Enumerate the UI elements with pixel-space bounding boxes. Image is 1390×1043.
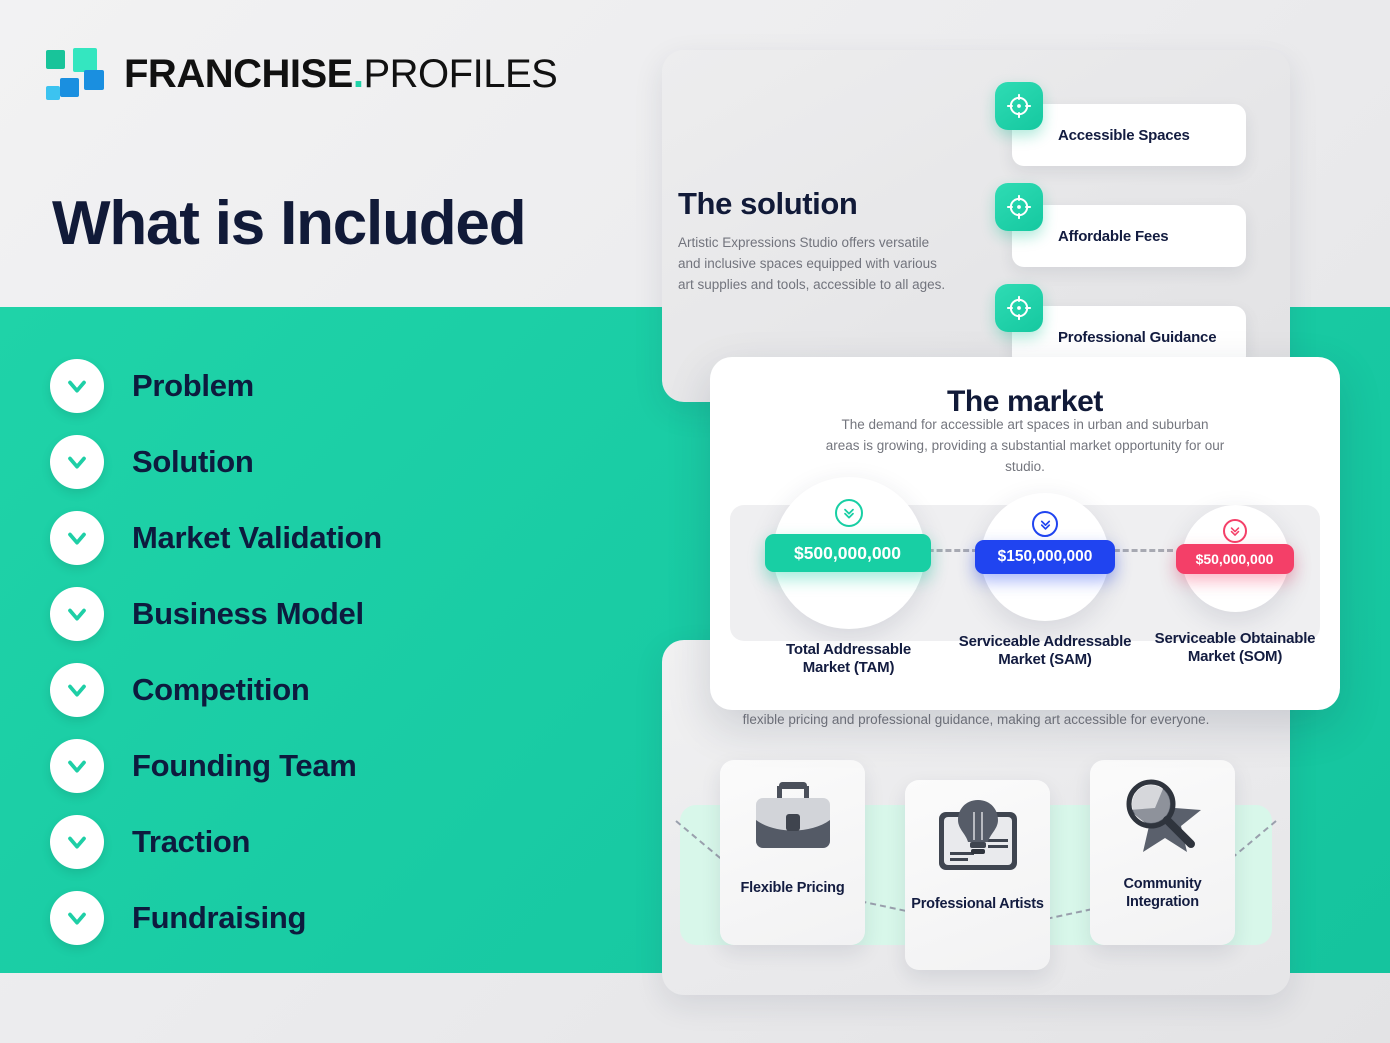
- segment-connector-2: [1105, 549, 1173, 552]
- chevron-down-icon: [50, 739, 104, 793]
- double-chevron-down-icon: [835, 499, 863, 527]
- segment-value-badge: $500,000,000: [765, 534, 931, 572]
- market-segments: $500,000,000 Total Addressable Market (T…: [710, 477, 1340, 702]
- market-segment-som[interactable]: $50,000,000 Serviceable Obtainable Marke…: [1140, 505, 1330, 667]
- toc-item-label: Solution: [132, 444, 254, 480]
- segment-value-badge: $150,000,000: [975, 540, 1115, 574]
- toc-item-label: Founding Team: [132, 748, 357, 784]
- brand-logo[interactable]: FRANCHISE.PROFILES: [46, 48, 557, 100]
- target-icon: [995, 284, 1043, 332]
- chevron-down-icon: [50, 891, 104, 945]
- solution-description: Artistic Expressions Studio offers versa…: [678, 233, 954, 296]
- market-title: The market: [710, 385, 1340, 419]
- solution-feature-label: Accessible Spaces: [1058, 127, 1190, 144]
- toc-item-label: Problem: [132, 368, 254, 404]
- chevron-down-icon: [50, 663, 104, 717]
- toc-item-traction[interactable]: Traction: [50, 804, 382, 880]
- segment-name: Serviceable Addressable Market (SAM): [955, 633, 1135, 670]
- target-icon: [995, 183, 1043, 231]
- chevron-down-icon: [50, 435, 104, 489]
- market-segment-sam[interactable]: $150,000,000 Serviceable Addressable Mar…: [950, 493, 1140, 670]
- solution-feature-label: Professional Guidance: [1058, 329, 1216, 346]
- segment-circle: $50,000,000: [1182, 505, 1289, 612]
- brand-name-dot: .: [353, 52, 364, 96]
- segment-name: Serviceable Obtainable Market (SOM): [1145, 630, 1325, 667]
- toc-item-competition[interactable]: Competition: [50, 652, 382, 728]
- segment-circle: $500,000,000: [773, 477, 925, 629]
- chevron-down-icon: [50, 511, 104, 565]
- value-card-label: Flexible Pricing: [741, 879, 845, 897]
- target-icon: [995, 82, 1043, 130]
- segment-value-badge: $50,000,000: [1176, 544, 1294, 574]
- bottom-description: flexible pricing and professional guidan…: [662, 710, 1290, 731]
- toc-item-business-model[interactable]: Business Model: [50, 576, 382, 652]
- brand-name-light: PROFILES: [363, 52, 557, 96]
- solution-feature-label: Affordable Fees: [1058, 228, 1168, 245]
- lightbulb-presentation-icon: [930, 796, 1026, 883]
- toc-item-label: Business Model: [132, 596, 364, 632]
- value-card-label: Professional Artists: [911, 895, 1043, 913]
- page-title: What is Included: [52, 188, 525, 259]
- table-of-contents: Problem Solution Market Validation Busin…: [50, 348, 382, 956]
- magnifier-star-icon: [1115, 774, 1211, 865]
- toc-item-founding-team[interactable]: Founding Team: [50, 728, 382, 804]
- solution-title: The solution: [678, 186, 857, 222]
- toc-item-solution[interactable]: Solution: [50, 424, 382, 500]
- market-card: The market The demand for accessible art…: [710, 357, 1340, 710]
- value-card-flexible-pricing[interactable]: Flexible Pricing: [720, 760, 865, 945]
- toc-item-label: Traction: [132, 824, 250, 860]
- toc-item-label: Fundraising: [132, 900, 306, 936]
- toc-item-label: Market Validation: [132, 520, 382, 556]
- toc-item-fundraising[interactable]: Fundraising: [50, 880, 382, 956]
- chevron-down-icon: [50, 815, 104, 869]
- briefcase-icon: [747, 778, 839, 865]
- toc-item-market-validation[interactable]: Market Validation: [50, 500, 382, 576]
- segment-circle: $150,000,000: [981, 493, 1109, 621]
- market-description: The demand for accessible art spaces in …: [825, 415, 1225, 478]
- value-card-community-integration[interactable]: Community Integration: [1090, 760, 1235, 945]
- brand-name: FRANCHISE.PROFILES: [124, 54, 557, 94]
- chevron-down-icon: [50, 359, 104, 413]
- toc-item-label: Competition: [132, 672, 310, 708]
- brand-name-bold: FRANCHISE: [124, 52, 353, 96]
- value-card-label: Community Integration: [1090, 875, 1235, 911]
- logo-mark-icon: [46, 48, 106, 100]
- toc-item-problem[interactable]: Problem: [50, 348, 382, 424]
- double-chevron-down-icon: [1223, 519, 1247, 543]
- double-chevron-down-icon: [1032, 511, 1058, 537]
- chevron-down-icon: [50, 587, 104, 641]
- value-card-professional-artists[interactable]: Professional Artists: [905, 780, 1050, 970]
- market-segment-tam[interactable]: $500,000,000 Total Addressable Market (T…: [752, 477, 945, 678]
- segment-name: Total Addressable Market (TAM): [761, 641, 936, 678]
